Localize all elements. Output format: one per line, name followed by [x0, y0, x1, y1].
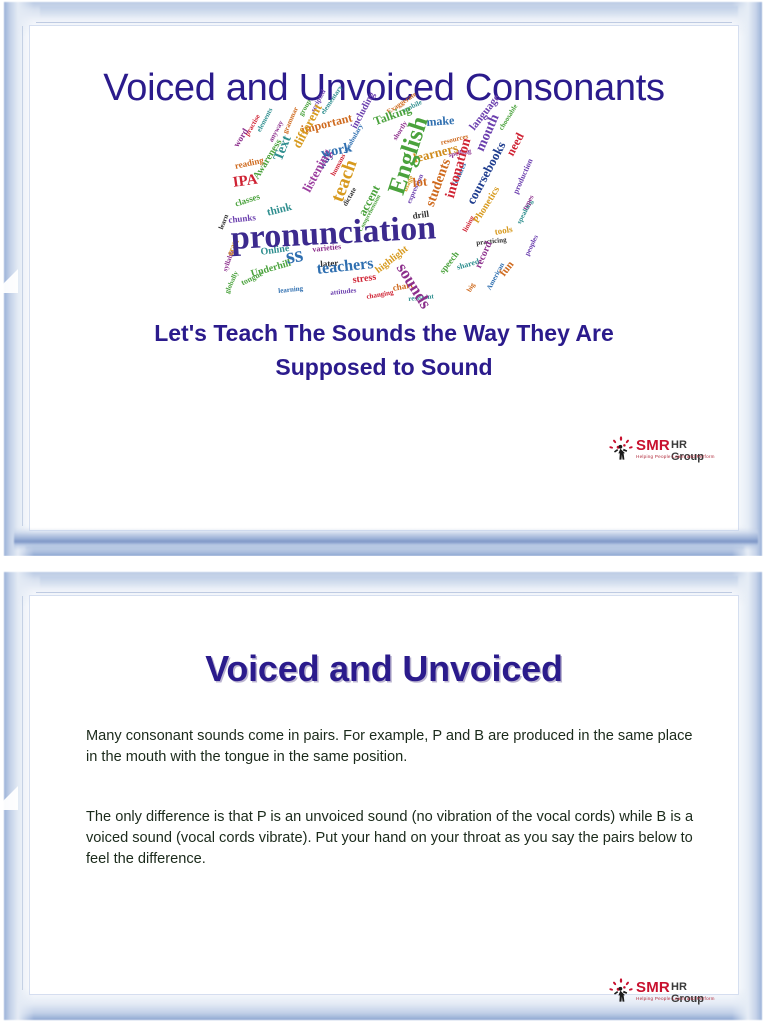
- logo-tagline: Helping People Learn and Perform: [636, 996, 715, 1001]
- slide-deck: Voiced and Unvoiced Consonants pronuncia…: [0, 0, 768, 1024]
- wordcloud-word: peoples: [524, 234, 540, 257]
- wordcloud-word: IPA: [232, 173, 259, 191]
- wordcloud-word: classes: [234, 192, 261, 208]
- frame-brush-top: [40, 6, 738, 18]
- paragraph-2: The only difference is that P is an unvo…: [86, 807, 706, 869]
- slide-2-title: Voiced and Unvoiced: [30, 648, 738, 690]
- slide-2: Voiced and Unvoiced Many consonant sound…: [0, 570, 768, 1024]
- wordcloud-word: changing: [366, 289, 394, 301]
- frame-hairline-left: [22, 596, 23, 990]
- smr-hr-group-logo: SMR HR Group Helping People Learn and Pe…: [608, 976, 720, 1008]
- slide-2-body: Many consonant sounds come in pairs. For…: [86, 726, 706, 870]
- logo-brand-text: SMR: [636, 437, 670, 454]
- logo-tagline: Helping People Learn and Perform: [636, 454, 715, 459]
- frame-hairline-left: [22, 26, 23, 526]
- wordcloud-word: attitudes: [330, 287, 357, 297]
- frame-hairline-top: [36, 592, 732, 593]
- wordcloud-word: globally: [224, 270, 240, 295]
- frame-brush-bottom: [14, 528, 758, 550]
- subtitle-line-1: Let's Teach The Sounds the Way They Are: [154, 320, 614, 346]
- sunburst-person-icon: [608, 978, 634, 1004]
- frame-corner-notch: [0, 267, 18, 293]
- wordcloud-word: tools: [494, 225, 513, 237]
- wordcloud-word: production: [512, 158, 535, 196]
- frame-brush-bottom-secondary: [26, 546, 744, 554]
- wordcloud-word: stress: [352, 273, 377, 286]
- frame-brush-top: [40, 576, 738, 588]
- slide-1-content: Voiced and Unvoiced Consonants pronuncia…: [30, 26, 738, 530]
- logo-brand-text: SMR: [636, 979, 670, 996]
- logo-suffix-text: HR Group: [671, 439, 720, 463]
- wordcloud-word: big: [466, 282, 477, 294]
- wordcloud-word: need: [504, 131, 526, 158]
- slide-1-subtitle: Let's Teach The Sounds the Way They Are …: [70, 316, 698, 384]
- paragraph-1: Many consonant sounds come in pairs. For…: [86, 726, 706, 767]
- frame-corner-notch: [0, 784, 18, 810]
- subtitle-line-2: Supposed to Sound: [275, 354, 492, 380]
- frame-hairline-top: [36, 22, 732, 23]
- slide-1: Voiced and Unvoiced Consonants pronuncia…: [0, 0, 768, 560]
- pronunciation-word-cloud: pronunciationEnglishteachteacherssoundsi…: [216, 104, 540, 324]
- wordcloud-word: learning: [278, 285, 303, 295]
- smr-hr-group-logo: SMR HR Group Helping People Learn and Pe…: [608, 434, 720, 466]
- wordcloud-word: word: [232, 127, 250, 149]
- slide-2-content: Voiced and Unvoiced Many consonant sound…: [30, 596, 738, 994]
- logo-suffix-text: HR Group: [671, 981, 720, 1005]
- sunburst-person-icon: [608, 436, 634, 462]
